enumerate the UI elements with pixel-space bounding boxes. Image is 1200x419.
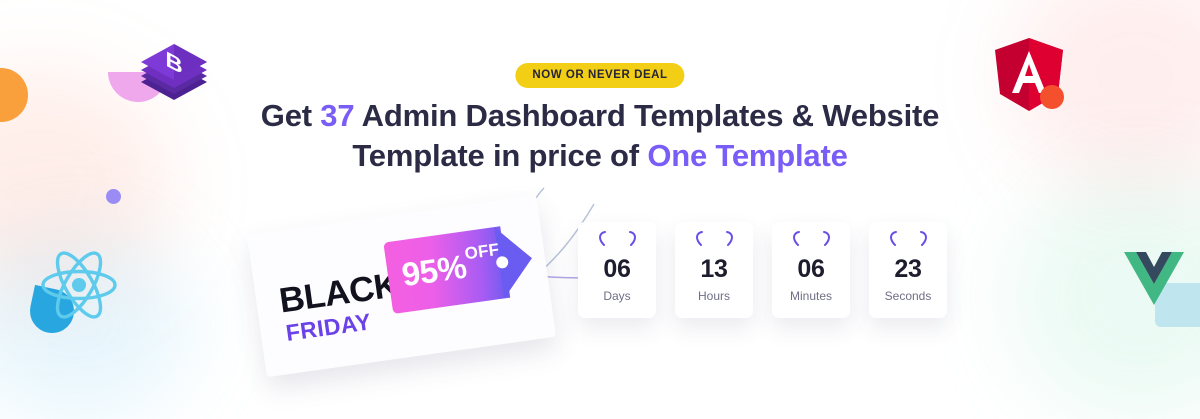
- countdown-value-days: 06: [578, 255, 656, 284]
- countdown-card-minutes: 06 Minutes: [772, 222, 850, 318]
- headline-highlight: One Template: [647, 138, 847, 173]
- calendar-rings-icon: [869, 230, 947, 247]
- countdown-value-hours: 13: [675, 255, 753, 284]
- discount-off-label: OFF: [464, 241, 501, 263]
- countdown-card-seconds: 23 Seconds: [869, 222, 947, 318]
- promo-banner: B NOW OR NEVE: [0, 0, 1200, 419]
- react-logo: [36, 245, 122, 325]
- countdown-label-hours: Hours: [675, 289, 753, 303]
- headline-line-1: Get 37 Admin Dashboard Templates & Websi…: [0, 96, 1200, 136]
- deal-badge[interactable]: NOW OR NEVER DEAL: [515, 63, 684, 88]
- black-friday-promo: BLACK FRIDAY 95% OFF: [247, 194, 565, 384]
- headline-text-3: Template in price of: [352, 138, 647, 173]
- discount-percent: 95%: [400, 250, 469, 292]
- headline-line-2: Template in price of One Template: [0, 136, 1200, 176]
- page-title: Get 37 Admin Dashboard Templates & Websi…: [0, 96, 1200, 176]
- headline-count: 37: [320, 98, 354, 133]
- countdown-label-days: Days: [578, 289, 656, 303]
- headline-text-2: Admin Dashboard Templates & Website: [354, 98, 939, 133]
- purple-dot-shape: [106, 189, 121, 204]
- countdown-value-seconds: 23: [869, 255, 947, 284]
- countdown-timer: 06 Days 13 Hours 06 Minutes 23: [578, 222, 947, 318]
- countdown-label-minutes: Minutes: [772, 289, 850, 303]
- vue-logo: [1124, 250, 1184, 308]
- countdown-value-minutes: 06: [772, 255, 850, 284]
- headline-text-1: Get: [261, 98, 321, 133]
- countdown-card-hours: 13 Hours: [675, 222, 753, 318]
- countdown-label-seconds: Seconds: [869, 289, 947, 303]
- calendar-rings-icon: [675, 230, 753, 247]
- calendar-rings-icon: [578, 230, 656, 247]
- calendar-rings-icon: [772, 230, 850, 247]
- countdown-card-days: 06 Days: [578, 222, 656, 318]
